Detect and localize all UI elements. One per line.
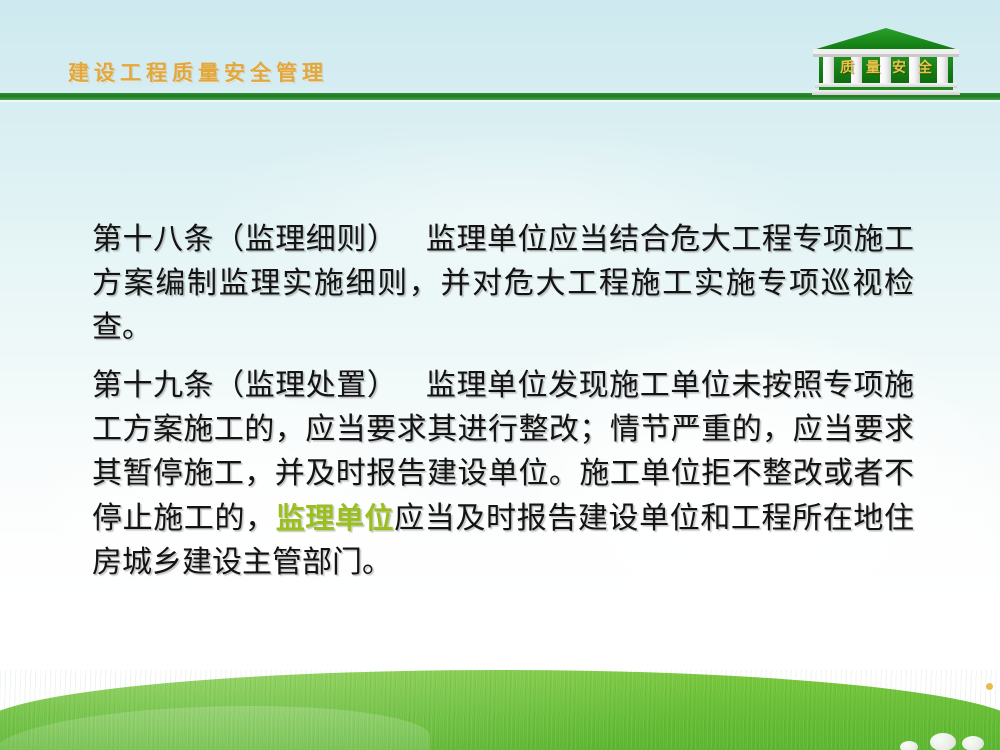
presentation-slide: 建设工程质量安全管理	[0, 0, 1000, 750]
slide-header: 建设工程质量安全管理	[0, 0, 1000, 102]
paragraph-article-19: 第十九条（监理处置）监理单位发现施工单位未按照专项施工方案施工的，应当要求其进行…	[92, 364, 914, 585]
flower-speck-icon	[986, 683, 993, 690]
sheep-shape-3	[900, 741, 918, 750]
sheep-shape-1	[930, 733, 956, 750]
slide-body: 第十八条（监理细则）监理单位应当结合危大工程专项施工方案编制监理实施细则，并对危…	[92, 218, 914, 585]
quality-safety-temple-logo: 质量安全	[806, 26, 966, 98]
sheep-shape-2	[962, 736, 984, 750]
article-18-heading: 第十八条（监理细则）	[92, 223, 397, 256]
highlighted-term-supervision-unit: 监理单位	[276, 501, 394, 535]
slide-header-title: 建设工程质量安全管理	[68, 63, 328, 84]
paragraph-article-18: 第十八条（监理细则）监理单位应当结合危大工程专项施工方案编制监理实施细则，并对危…	[92, 218, 914, 350]
header-divider-highlight	[0, 100, 1000, 102]
article-19-heading: 第十九条（监理处置）	[92, 369, 397, 402]
grass-hill	[0, 670, 1000, 750]
grass-field-decoration	[0, 640, 1000, 750]
